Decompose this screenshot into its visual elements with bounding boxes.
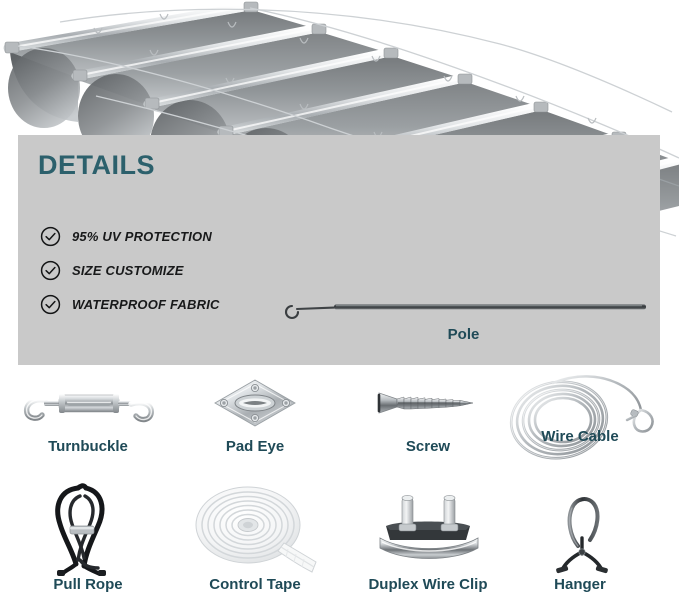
hanger-icon — [540, 480, 620, 576]
part-label: Turnbuckle — [3, 438, 173, 455]
feature-label: WATERPROOF FABRIC — [72, 297, 220, 312]
part-item-control-tape: Control Tape — [170, 482, 340, 593]
pull-rope-icon — [28, 480, 148, 576]
details-panel-title: DETAILS — [38, 150, 155, 181]
control-tape-icon — [180, 480, 330, 576]
part-label: Duplex Wire Clip — [343, 576, 513, 593]
part-art — [3, 372, 173, 434]
part-label: Pull Rope — [3, 576, 173, 593]
part-item-pull-rope: Pull Rope — [3, 482, 173, 593]
part-art — [3, 482, 173, 574]
part-item-turnbuckle: Turnbuckle — [3, 372, 173, 455]
part-item-duplex-wire-clip: Duplex Wire Clip — [343, 482, 513, 593]
check-circle-icon — [40, 226, 61, 247]
parts-grid: Turnbuckle — [0, 372, 679, 611]
pole-label: Pole — [276, 326, 651, 343]
part-label: Hanger — [495, 576, 665, 593]
feature-label: SIZE CUSTOMIZE — [72, 263, 184, 278]
part-art — [170, 372, 340, 434]
check-circle-icon — [40, 294, 61, 315]
part-label: Control Tape — [170, 576, 340, 593]
part-label: Pad Eye — [170, 438, 340, 455]
part-item-pad-eye: Pad Eye — [170, 372, 340, 455]
part-label: Wire Cable — [495, 428, 665, 445]
part-art — [343, 482, 513, 574]
feature-label: 95% UV PROTECTION — [72, 229, 212, 244]
part-item-screw: Screw — [343, 372, 513, 455]
feature-item: 95% UV PROTECTION — [40, 220, 340, 252]
pole-figure: Pole — [276, 290, 651, 350]
part-art — [495, 372, 665, 464]
turnbuckle-icon — [15, 376, 161, 430]
pad-eye-icon — [207, 374, 303, 432]
part-art — [495, 482, 665, 574]
wire-cable-icon — [495, 370, 665, 466]
feature-item: SIZE CUSTOMIZE — [40, 254, 340, 286]
part-art — [170, 482, 340, 574]
infographic-page: DETAILS 95% UV PROTECTION — [0, 0, 679, 611]
part-art — [343, 372, 513, 434]
screw-icon — [369, 383, 487, 423]
part-label: Screw — [343, 438, 513, 455]
pole-rod-icon — [276, 290, 651, 324]
part-item-hanger: Hanger — [495, 482, 665, 593]
check-circle-icon — [40, 260, 61, 281]
details-panel: DETAILS 95% UV PROTECTION — [18, 135, 660, 365]
duplex-wire-clip-icon — [358, 480, 498, 576]
part-item-wire-cable: Wire Cable — [495, 372, 665, 464]
